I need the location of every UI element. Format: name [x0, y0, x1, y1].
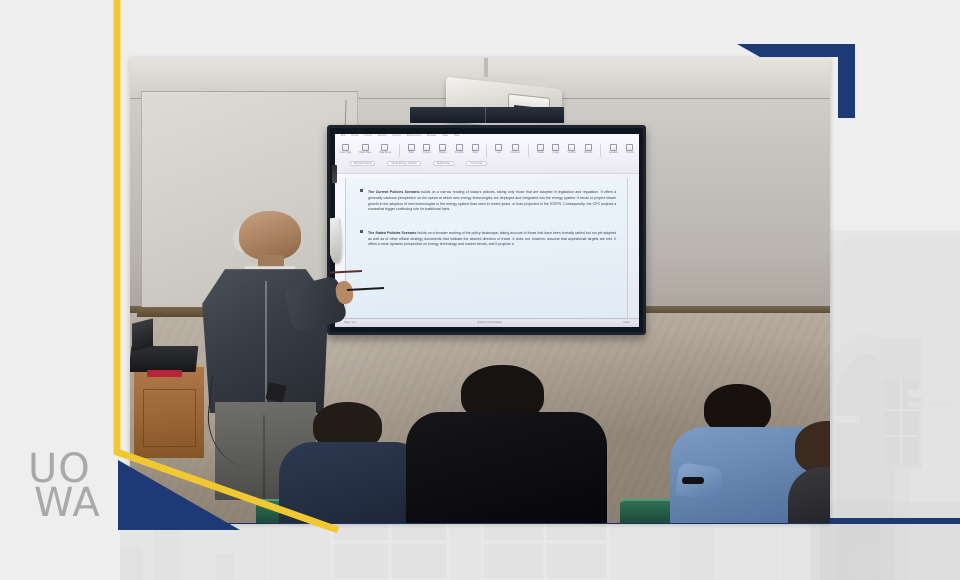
table-icon [408, 144, 415, 151]
bullet-square-icon [360, 230, 363, 233]
audience-member [410, 365, 599, 523]
shapes-icon [439, 144, 446, 151]
laptop-icon [130, 346, 198, 372]
ribbon-tab[interactable]: Review [427, 134, 436, 137]
link-icon [495, 144, 502, 151]
wristwatch-icon [682, 477, 704, 484]
ribbon-separator [486, 144, 487, 157]
audience-member [284, 402, 417, 523]
ribbon-command[interactable]: Blank Page [359, 144, 371, 154]
ribbon-command[interactable]: WordArt [584, 144, 592, 154]
ribbon-command-label: WordArt [584, 152, 592, 154]
ribbon-tab-strip[interactable]: File Home Insert Design Layout Reference… [341, 134, 460, 137]
ribbon-command-label: SmartArt [455, 152, 464, 154]
campus-arch-watermark [810, 230, 960, 580]
ribbon-command[interactable]: Symbol [626, 144, 634, 154]
document-breadcrumb-row: Microsoft Word World Energy Outlook Refe… [350, 161, 623, 167]
ribbon-tab[interactable]: Home [351, 134, 358, 137]
ribbon-separator [399, 144, 400, 157]
status-zoom-level: 100% [623, 321, 629, 324]
ribbon-command[interactable]: Page Break [379, 144, 391, 154]
ribbon-tab[interactable]: File [341, 134, 346, 137]
ribbon-command[interactable]: Table [408, 144, 415, 154]
smartboard-speaker-bar [410, 107, 564, 123]
wordart-icon [585, 144, 592, 151]
ribbon-command[interactable]: Link [495, 144, 502, 154]
smartart-icon [456, 144, 463, 151]
logo-line-two: WA [34, 486, 114, 520]
equation-icon [610, 144, 617, 151]
page-icon [342, 144, 349, 151]
projector-mount-rod [484, 58, 488, 79]
ribbon-command[interactable]: Chart [472, 144, 479, 154]
lecture-photograph: File Home Insert Design Layout Reference… [130, 58, 830, 523]
chart-icon [472, 144, 479, 151]
comment-icon [512, 144, 519, 151]
ribbon-tab[interactable]: Layout [393, 134, 401, 137]
ribbon-command[interactable]: Text Box [567, 144, 576, 154]
wooden-lectern [134, 365, 204, 458]
audience-body [406, 412, 606, 523]
banner-stage: File Home Insert Design Layout Reference… [0, 0, 960, 580]
uowa-logo[interactable]: UO WA [28, 452, 114, 528]
ribbon-command-label: Footer [553, 152, 560, 154]
ribbon-command-label: Shapes [439, 152, 447, 154]
document-body: The Current Policies Scenario builds on … [345, 178, 628, 323]
ribbon-command[interactable]: Equation [609, 144, 618, 154]
desk-folder [147, 370, 182, 377]
projected-document: File Home Insert Design Layout Reference… [335, 134, 639, 327]
audience-member [788, 421, 830, 523]
ribbon-command-label: Cover Page [339, 152, 351, 154]
breadcrumb-item[interactable]: Microsoft Word [350, 161, 375, 166]
ribbon-command-label: Comment [510, 152, 520, 154]
ribbon-command-label: Blank Page [359, 152, 371, 154]
ribbon-tab[interactable]: Design [378, 134, 387, 137]
blank-page-icon [362, 144, 369, 151]
ribbon-command[interactable]: Pictures [423, 144, 431, 154]
header-icon [537, 144, 544, 151]
ribbon-separator [600, 144, 601, 157]
page-break-icon [381, 144, 388, 151]
status-language: English (United States) [477, 321, 501, 324]
ribbon-command-groups: Cover Page Blank Page Page Break [339, 144, 634, 157]
breadcrumb-item[interactable]: References [433, 161, 454, 166]
bullet-square-icon [360, 189, 363, 192]
ribbon-tab[interactable]: View [442, 134, 448, 137]
ribbon-command[interactable]: Header [537, 144, 545, 154]
footer-icon [552, 144, 559, 151]
symbol-icon [626, 144, 633, 151]
list-item: The Stated Policies Scenario builds on a… [360, 228, 616, 252]
marker-icon [332, 165, 337, 183]
ribbon-command-label: Equation [609, 152, 618, 154]
ribbon-separator [528, 144, 529, 157]
ribbon-command[interactable]: Footer [552, 144, 559, 154]
ribbon-command-label: Table [409, 152, 415, 154]
ribbon-command-label: Chart [472, 152, 478, 154]
ribbon-tab[interactable]: Insert [365, 134, 372, 137]
ribbon-command[interactable]: Shapes [439, 144, 447, 154]
document-status-bar: Page 1 of 1 English (United States) 100% [335, 318, 639, 327]
bullet-paragraph: The Current Policies Scenario builds on … [368, 190, 616, 212]
bullet-paragraph: The Stated Policies Scenario builds on a… [368, 231, 616, 248]
textbox-icon [568, 144, 575, 151]
list-item: The Current Policies Scenario builds on … [360, 187, 616, 216]
ribbon-command-label: Symbol [626, 152, 634, 154]
ribbon-tab[interactable]: References [407, 134, 421, 137]
audience-body [788, 467, 830, 523]
breadcrumb-item[interactable]: Comments [466, 161, 487, 166]
bullet-lead: The Current Policies Scenario [368, 190, 420, 194]
document-ribbon: File Home Insert Design Layout Reference… [335, 134, 639, 175]
breadcrumb-item[interactable]: World Energy Outlook [387, 161, 420, 166]
ribbon-command[interactable]: Comment [510, 144, 520, 154]
ribbon-command[interactable]: Cover Page [339, 144, 351, 154]
ribbon-command-label: Header [537, 152, 545, 154]
ribbon-command-label: Text Box [567, 152, 576, 154]
audience-head [795, 421, 830, 474]
presenter-head [239, 211, 301, 260]
ribbon-command-label: Pictures [423, 152, 431, 154]
ribbon-command-label: Link [497, 152, 501, 154]
picture-icon [423, 144, 430, 151]
interactive-smartboard[interactable]: File Home Insert Design Layout Reference… [327, 125, 646, 334]
bullet-lead: The Stated Policies Scenario [368, 231, 416, 235]
laptop-screen [132, 318, 153, 351]
ribbon-command[interactable]: SmartArt [455, 144, 464, 154]
ribbon-tab[interactable]: Help [454, 134, 460, 137]
ribbon-command-label: Page Break [379, 152, 391, 154]
